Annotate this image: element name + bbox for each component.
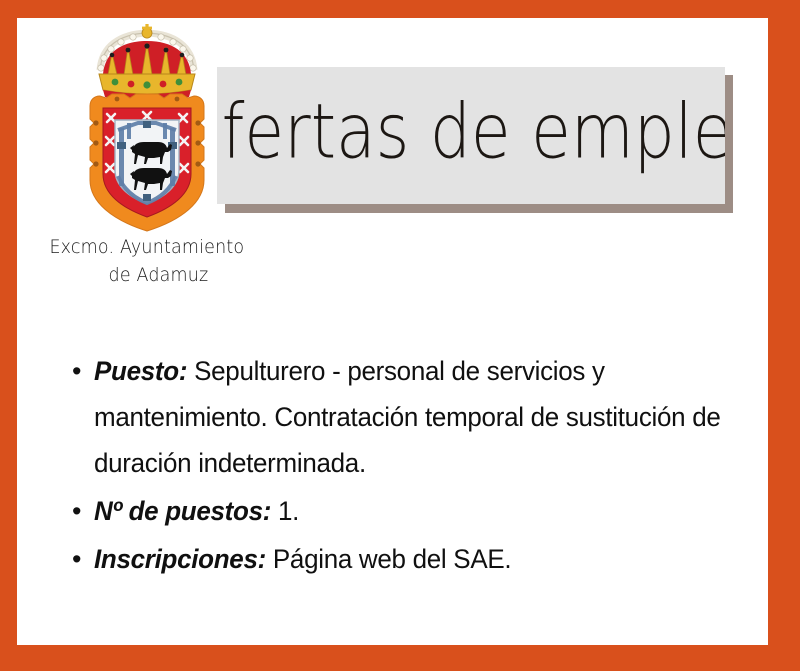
council-name-line-2: de Adamuz <box>48 262 246 290</box>
list-item: • Inscripciones: Página web del SAE. <box>72 536 748 582</box>
title-plaque: Ofertas de empleo <box>217 67 733 213</box>
bullet-icon: • <box>72 488 94 534</box>
page-title: Ofertas de empleo <box>217 94 725 177</box>
list-item-text: Puesto: Sepulturero - personal de servic… <box>94 348 735 486</box>
poster-header: Excmo. Ayuntamiento de Adamuz Ofertas de… <box>17 18 768 318</box>
list-item-text: Inscripciones: Página web del SAE. <box>94 536 735 582</box>
shield-inner-field <box>115 120 179 204</box>
list-item-label: Inscripciones: <box>94 544 266 574</box>
title-plaque-face: Ofertas de empleo <box>217 67 725 204</box>
bullet-icon: • <box>72 536 94 582</box>
crown-group <box>97 24 195 101</box>
list-item-value: Sepulturero - personal de servicios y ma… <box>94 356 721 478</box>
poster-canvas: Excmo. Ayuntamiento de Adamuz Ofertas de… <box>17 18 768 645</box>
list-item-value: Página web del SAE. <box>273 544 511 574</box>
adamuz-coat-of-arms-icon <box>72 24 222 232</box>
list-item-label: Nº de puestos: <box>94 496 271 526</box>
list-item-value: 1. <box>278 496 299 526</box>
job-offer-poster: Excmo. Ayuntamiento de Adamuz Ofertas de… <box>0 0 800 671</box>
list-item: • Nº de puestos: 1. <box>72 488 748 534</box>
list-item: • Puesto: Sepulturero - personal de serv… <box>72 348 748 486</box>
list-item-label: Puesto: <box>94 356 187 386</box>
job-details-list: • Puesto: Sepulturero - personal de serv… <box>72 348 748 584</box>
bullet-icon: • <box>72 348 94 394</box>
council-name: Excmo. Ayuntamiento de Adamuz <box>48 234 246 289</box>
council-name-line-1: Excmo. Ayuntamiento <box>48 234 246 262</box>
list-item-text: Nº de puestos: 1. <box>94 488 735 534</box>
